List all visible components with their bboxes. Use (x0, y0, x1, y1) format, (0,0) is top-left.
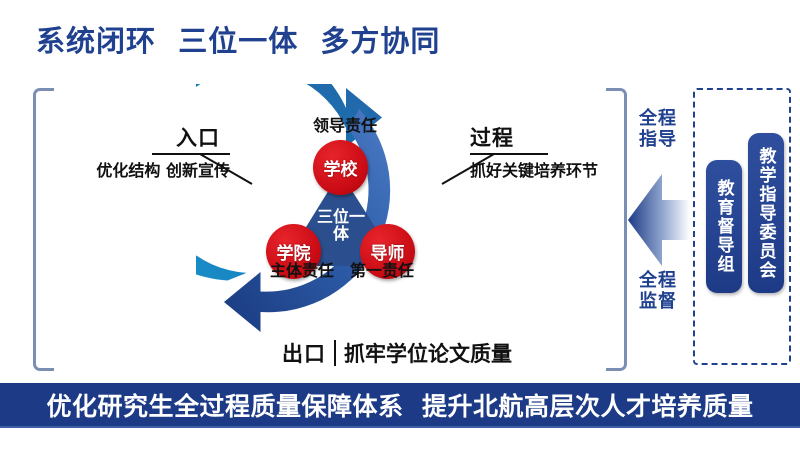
caption-college: 主体责任 (270, 262, 322, 279)
oversight-box-supervision[interactable]: 教育督导组 (706, 160, 742, 293)
exit-heading: 出口 (282, 338, 334, 368)
exit-label-group: 出口 抓牢学位论文质量 (282, 338, 512, 368)
page-title: 系统闭环 三位一体 多方协同 (36, 18, 440, 60)
bottom-banner-text: 优化研究生全过程质量保障体系 提升北航高层次人才培养质量 (47, 387, 754, 423)
node-school[interactable]: 学校 (313, 140, 368, 195)
exit-detail: 抓牢学位论文质量 (336, 338, 512, 368)
oversight-bottom-label: 全程监督 (630, 270, 686, 312)
oversight-top-label: 全程指导 (630, 108, 686, 150)
caption-tutor: 第一责任 (350, 262, 402, 279)
slide-canvas: 系统闭环 三位一体 多方协同 入口 优化结构 创新宣传 过程 抓好关键培养环节 (0, 0, 800, 450)
triangle-center-label: 三位一体 (312, 196, 370, 254)
oversight-box-committee[interactable]: 教学指导委员会 (748, 133, 784, 293)
banner-bottom-edge (0, 426, 800, 428)
left-arrow-icon (628, 172, 690, 268)
caption-school: 领导责任 (300, 117, 390, 134)
bottom-banner: 优化研究生全过程质量保障体系 提升北航高层次人才培养质量 (0, 383, 800, 426)
trinity-triangle-group: 三位一体 学校 学院 导师 (268, 140, 418, 310)
